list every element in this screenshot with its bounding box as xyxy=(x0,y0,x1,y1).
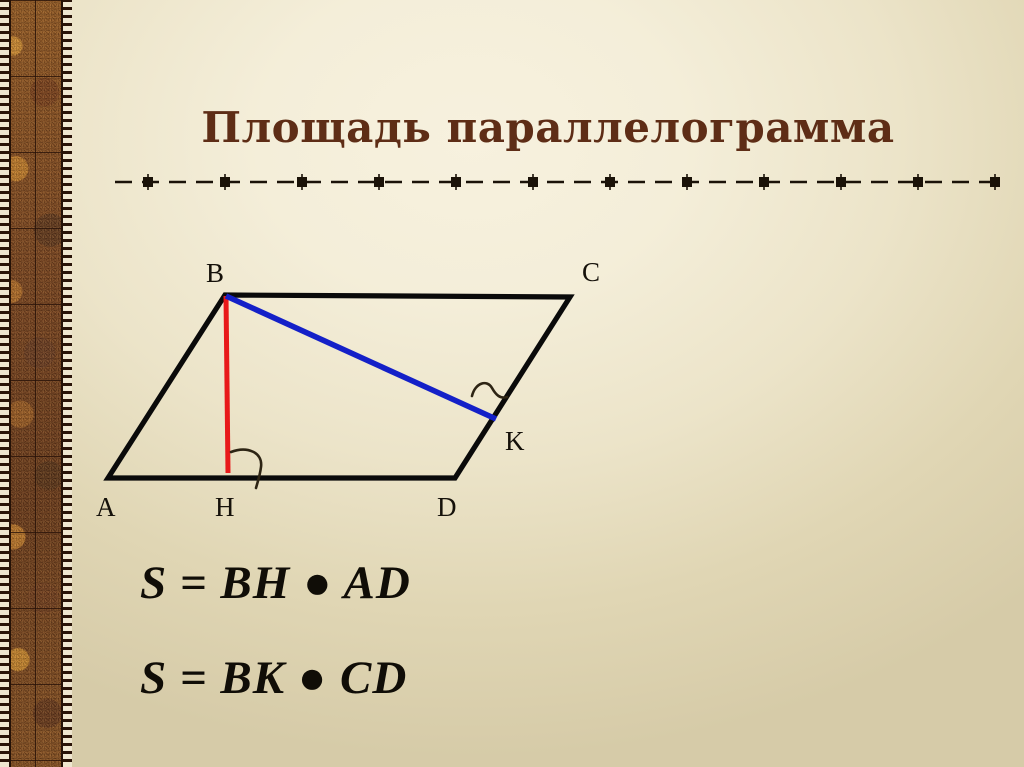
formula-area-bk-cd: S = BK ● CD xyxy=(140,652,407,704)
vertex-label-a: A xyxy=(96,494,116,521)
altitude-bh-red xyxy=(226,296,228,473)
formula-area-bh-ad: S = BH ● AD xyxy=(140,557,411,609)
vertex-label-h: H xyxy=(215,494,235,521)
vertex-label-b: B xyxy=(206,260,224,287)
slide-canvas: Площадь параллелограмма ABCDHK S = BH ● … xyxy=(0,0,1024,767)
right-angle-mark-k xyxy=(472,383,507,397)
vertex-label-d: D xyxy=(437,494,457,521)
altitude-bk-blue xyxy=(226,296,496,419)
right-angle-mark-h xyxy=(231,450,261,488)
vertex-label-c: C xyxy=(582,259,600,286)
parallelogram-outline xyxy=(108,295,570,478)
vertex-label-k: K xyxy=(505,428,525,455)
